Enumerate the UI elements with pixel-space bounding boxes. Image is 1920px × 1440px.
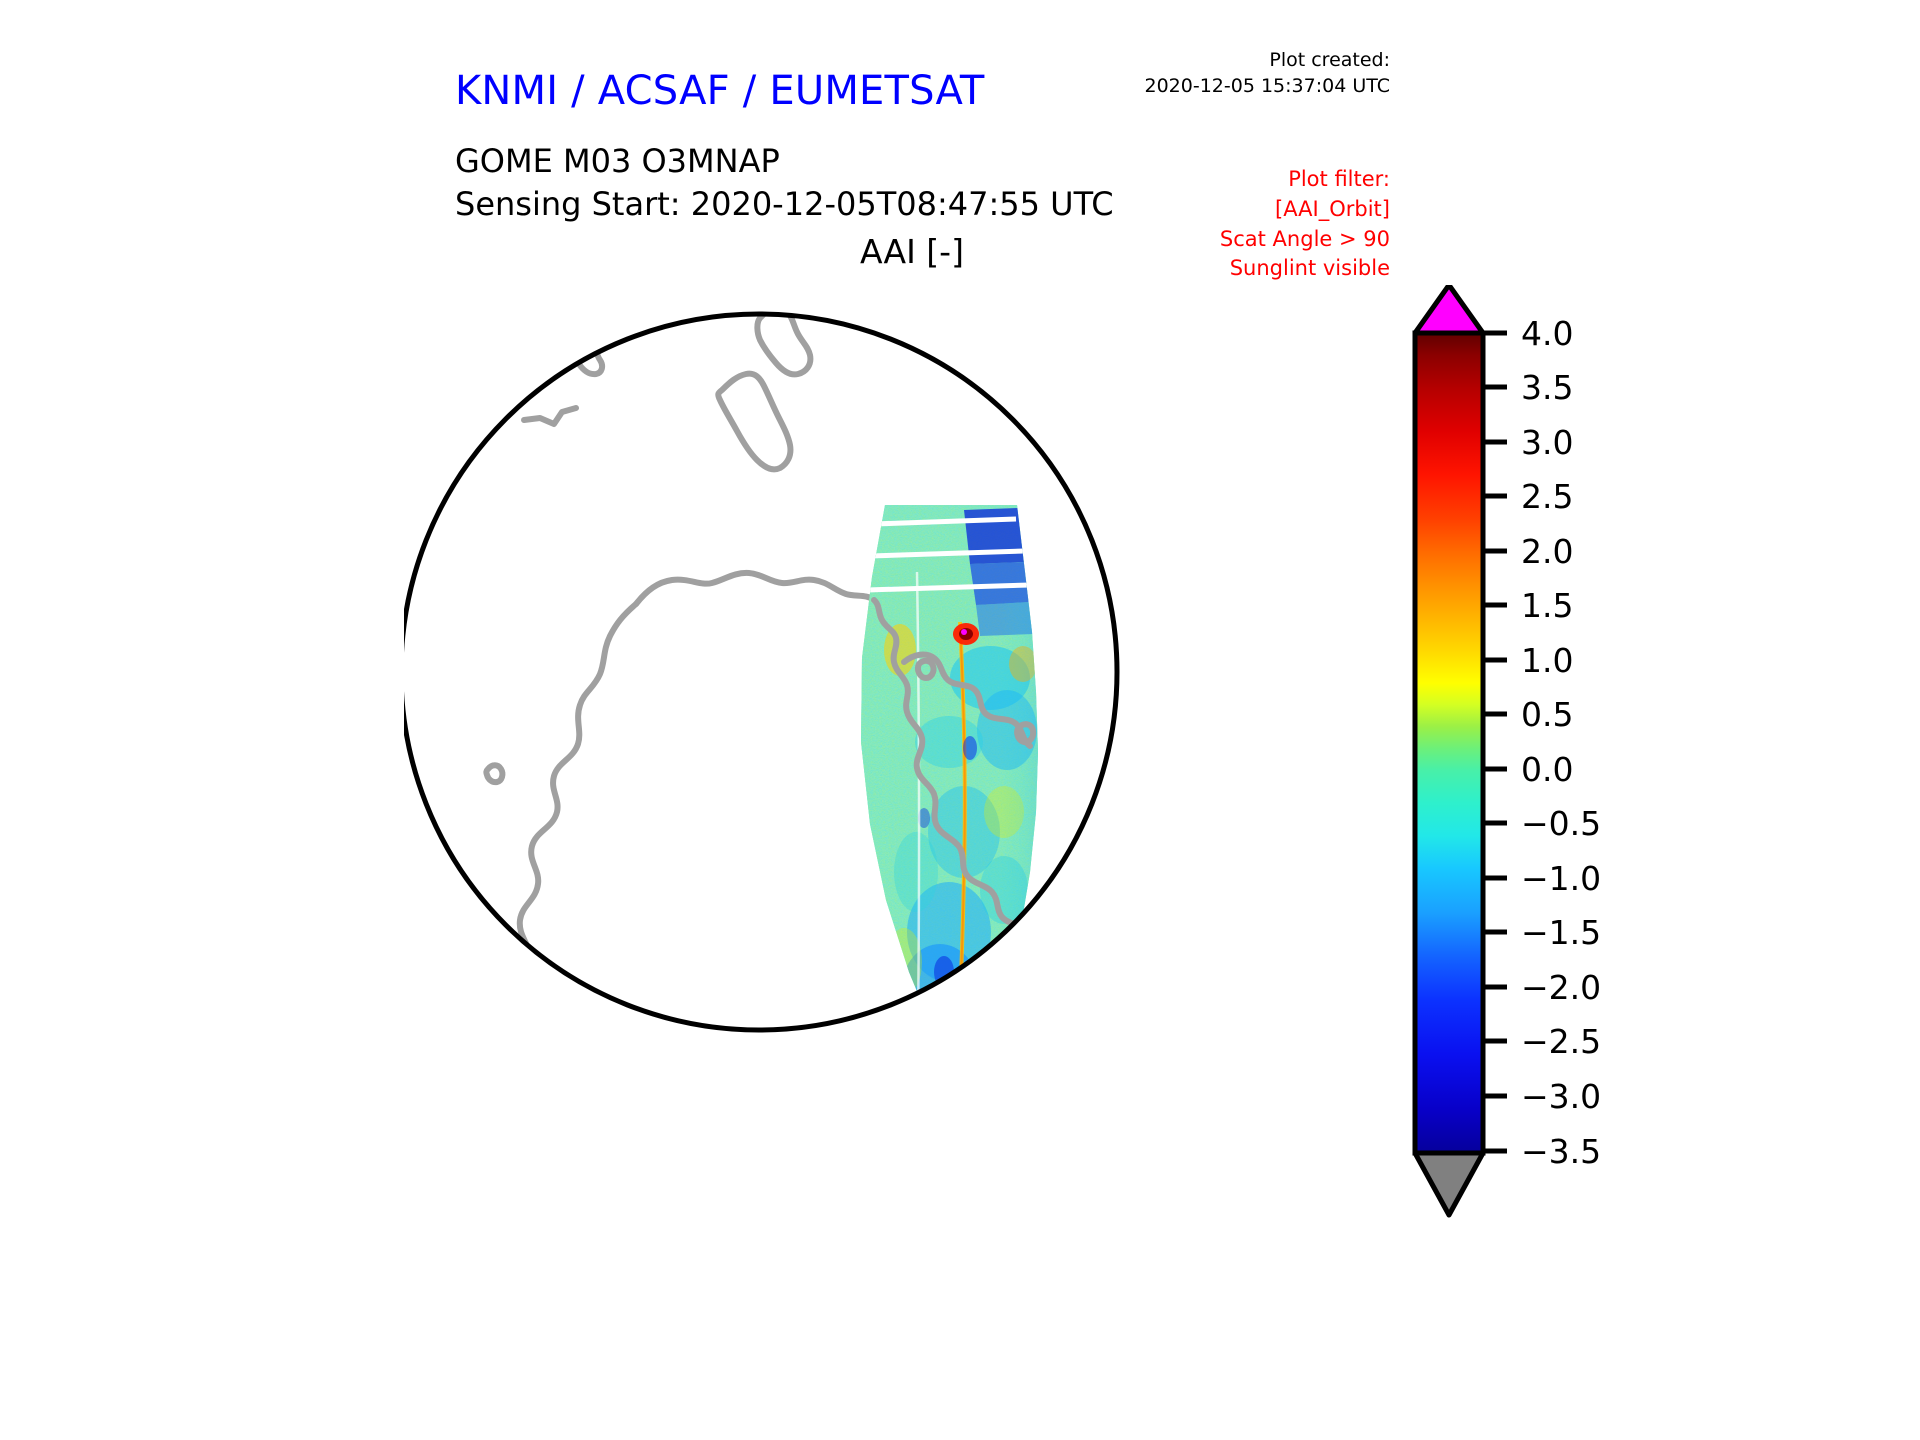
plot-filter-block: Plot filter: [AAI_Orbit] Scat Angle > 90…: [1120, 165, 1390, 284]
colorbar-tick: 2.5: [1483, 477, 1573, 516]
coastline-australia-south: [1042, 899, 1208, 1081]
product-info-block: GOME M03 O3MNAP Sensing Start: 2020-12-0…: [455, 140, 1114, 226]
colorbar: 4.0 3.5 3.0 2.5 2.0 1.5 1.0 0.5 0.0 −0.5…: [1395, 285, 1725, 1300]
colorbar-gradient: [1415, 333, 1483, 1153]
plot-created-timestamp: 2020-12-05 15:37:04 UTC: [1090, 74, 1390, 100]
colorbar-tick-label: −1.0: [1521, 859, 1601, 898]
plot-filter-label: Plot filter:: [1120, 165, 1390, 195]
colorbar-tick: −2.5: [1483, 1022, 1601, 1061]
colorbar-tick-label: −2.5: [1521, 1022, 1601, 1061]
colorbar-tick: 3.5: [1483, 368, 1573, 407]
organisation-title: KNMI / ACSAF / EUMETSAT: [455, 68, 985, 114]
colorbar-tick-label: 1.0: [1521, 641, 1573, 680]
colorbar-tick-label: 1.5: [1521, 586, 1573, 625]
colorbar-tick-label: −1.5: [1521, 913, 1601, 952]
colorbar-tick: 1.5: [1483, 586, 1573, 625]
colorbar-svg: 4.0 3.5 3.0 2.5 2.0 1.5 1.0 0.5 0.0 −0.5…: [1395, 285, 1725, 1300]
colorbar-ticks: 4.0 3.5 3.0 2.5 2.0 1.5 1.0 0.5 0.0 −0.5…: [1483, 314, 1601, 1171]
plot-created-label: Plot created:: [1090, 48, 1390, 74]
coastline-tasmania: [1067, 1009, 1090, 1051]
product-name: GOME M03 O3MNAP: [455, 140, 1114, 183]
colorbar-under-arrow: [1415, 1153, 1483, 1215]
colorbar-tick-label: 2.5: [1521, 477, 1573, 516]
colorbar-tick: 0.5: [1483, 695, 1573, 734]
map-plot-area: [404, 272, 1394, 1307]
colorbar-tick-label: 2.0: [1521, 532, 1573, 571]
colorbar-tick: 1.0: [1483, 641, 1573, 680]
colorbar-tick: 4.0: [1483, 314, 1573, 353]
colorbar-tick: −3.5: [1483, 1132, 1601, 1171]
colorbar-tick-label: 0.0: [1521, 750, 1573, 789]
plot-filter-condition: Scat Angle > 90: [1120, 225, 1390, 255]
colorbar-tick: 0.0: [1483, 750, 1573, 789]
colorbar-tick-label: −3.0: [1521, 1077, 1601, 1116]
colorbar-tick: 2.0: [1483, 532, 1573, 571]
colorbar-tick-label: 3.5: [1521, 368, 1573, 407]
colorbar-tick: −1.0: [1483, 859, 1601, 898]
page-title: AAI [-]: [860, 232, 964, 271]
plot-created-block: Plot created: 2020-12-05 15:37:04 UTC: [1090, 48, 1390, 99]
colorbar-tick-label: −2.0: [1521, 968, 1601, 1007]
sensing-start: Sensing Start: 2020-12-05T08:47:55 UTC: [455, 183, 1114, 226]
colorbar-tick-label: 3.0: [1521, 423, 1573, 462]
colorbar-over-arrow: [1415, 285, 1483, 333]
colorbar-tick-label: 4.0: [1521, 314, 1573, 353]
polar-stereographic-map: [404, 272, 1394, 1307]
colorbar-tick: −1.5: [1483, 913, 1601, 952]
colorbar-tick-label: 0.5: [1521, 695, 1573, 734]
colorbar-tick: −2.0: [1483, 968, 1601, 1007]
colorbar-tick: −3.0: [1483, 1077, 1601, 1116]
colorbar-tick-label: −0.5: [1521, 804, 1601, 843]
coastline-australia: [1044, 887, 1347, 1036]
colorbar-tick: 3.0: [1483, 423, 1573, 462]
plot-filter-name: [AAI_Orbit]: [1120, 195, 1390, 225]
colorbar-tick: −0.5: [1483, 804, 1601, 843]
colorbar-tick-label: −3.5: [1521, 1132, 1601, 1171]
